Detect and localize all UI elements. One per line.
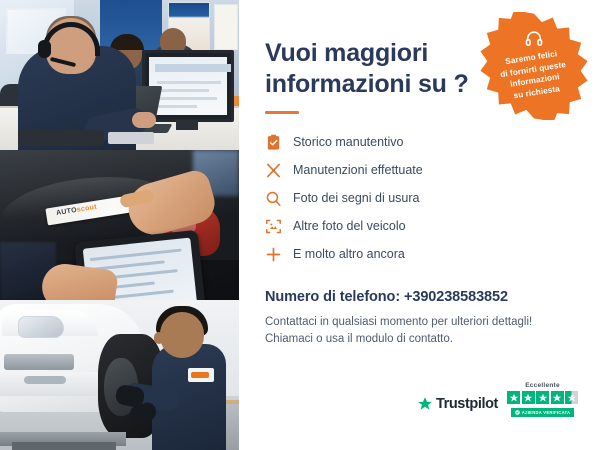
star-half-5 [565,391,578,404]
star-filled-2 [522,391,535,404]
plus-icon [265,246,282,263]
star-filled-1 [507,391,520,404]
content-panel: Vuoi maggiori informazioni su ? Storico … [239,0,600,450]
photo-mechanic-checking-wheel-on-lift [0,300,239,450]
strip-brand-first: AUTO [56,207,78,217]
trustpilot-rating[interactable]: Trustpilot Eccellente AZIENDA VERIFICATA [417,382,578,417]
trustpilot-score-block: Eccellente AZIENDA VERIFICATA [507,382,578,417]
phone-label: Numero di telefono: [265,289,400,305]
headset-icon [525,29,544,53]
feature-label: Foto dei segni di usura [293,191,419,205]
title-divider [265,111,299,114]
magnifier-icon [265,190,282,207]
tools-cross-icon [265,162,282,179]
trustpilot-rating-caption: Eccellente [525,382,560,389]
feature-item-altre-foto-veicolo: Altre foto del veicolo [265,212,574,240]
feature-item-foto-segni-usura: Foto dei segni di usura [265,184,574,212]
contact-subtext-line-1: Contattaci in qualsiasi momento per ulte… [265,316,532,328]
verified-label: AZIENDA VERIFICATA [522,410,571,415]
headline-line-2: informazioni su ? [265,70,469,98]
photo-call-center-operators-with-headsets [0,0,239,150]
page-title: Vuoi maggiori informazioni su ? [265,38,480,99]
check-circle-icon [515,410,520,415]
headline-line-1: Vuoi maggiori [265,39,428,67]
feature-item-molto-altro: E molto altro ancora [265,240,574,268]
photo-column: AUTOscout [0,0,239,450]
contact-subtext: Contattaci in qualsiasi momento per ulte… [265,314,574,349]
photo-frame-icon [265,218,282,235]
feature-label: Storico manutentivo [293,135,403,149]
phone-line: Numero di telefono: +390238583852 [265,289,574,305]
photo-technician-inspecting-car-with-tablet: AUTOscout [0,150,239,300]
star-filled-3 [536,391,549,404]
strip-brand-second: scout [76,204,97,214]
promo-starburst-badge: Saremo felici di fornirti queste informa… [480,12,588,120]
feature-label: Manutenzioni effettuate [293,163,423,177]
trustpilot-brand: Trustpilot [436,396,498,412]
feature-list: Storico manutentivo Manutenzioni effettu… [265,128,574,268]
star-filled-4 [551,391,564,404]
feature-label: E molto altro ancora [293,247,405,261]
verified-business-badge: AZIENDA VERIFICATA [511,408,575,417]
clipboard-check-icon [265,134,282,151]
feature-label: Altre foto del veicolo [293,219,406,233]
feature-item-manutenzioni-effettuate: Manutenzioni effettuate [265,156,574,184]
promo-card: AUTOscout Vuoi mag [0,0,600,450]
trustpilot-star-icon [417,396,433,412]
trustpilot-logo: Trustpilot [417,396,498,417]
contact-subtext-line-2: Chiamaci o usa il modulo di contatto. [265,333,453,345]
trustpilot-stars [507,391,578,404]
phone-number[interactable]: +390238583852 [404,289,508,305]
feature-item-storico-manutentivo: Storico manutentivo [265,128,574,156]
